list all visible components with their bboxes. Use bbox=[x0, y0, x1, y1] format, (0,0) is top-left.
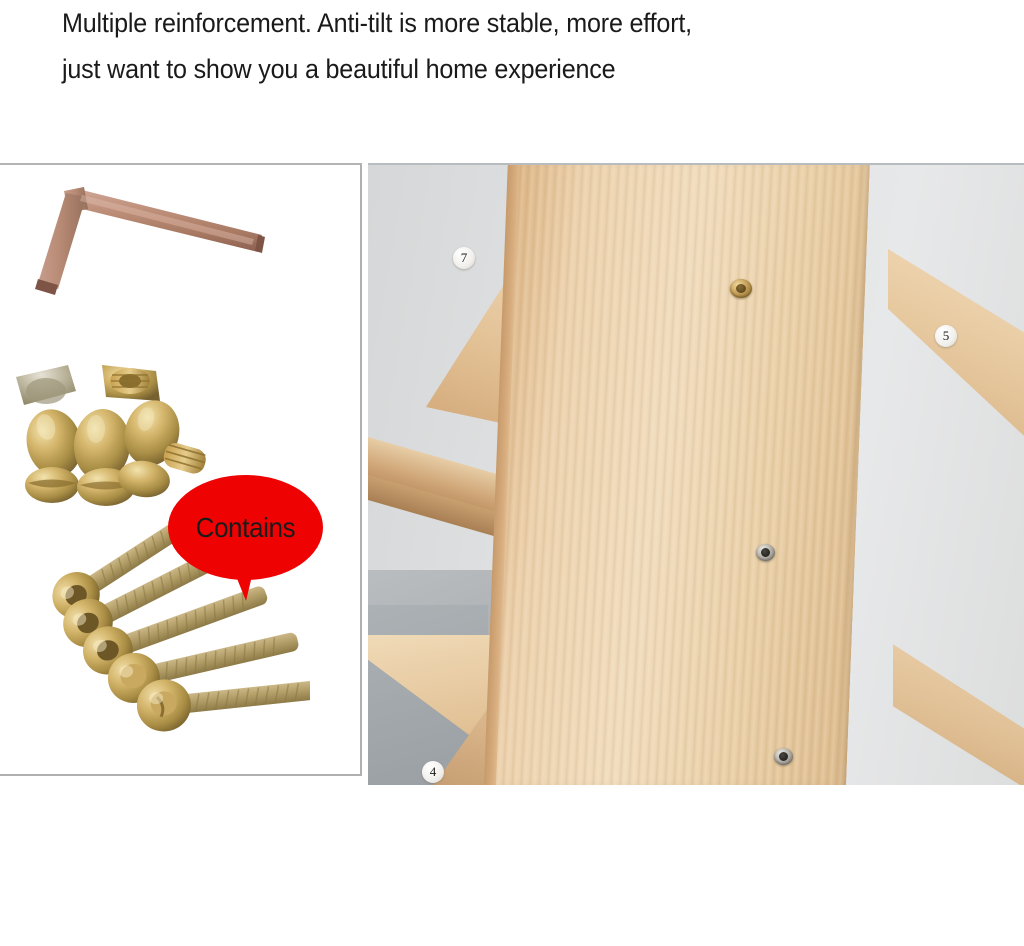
hole-cap-upper-left: 7 bbox=[453, 247, 475, 269]
included-hardware-panel: Contains bbox=[0, 163, 362, 776]
allen-key-icon bbox=[22, 179, 272, 299]
screw-head-silver-middle bbox=[756, 544, 775, 561]
shelf-closeup-panel: 7 5 4 bbox=[368, 163, 1024, 785]
hole-cap-right: 5 bbox=[935, 325, 957, 347]
page-title: Multiple reinforcement. Anti-tilt is mor… bbox=[62, 0, 899, 92]
upright-board bbox=[496, 163, 870, 785]
screw-head-silver-bottom bbox=[774, 748, 793, 765]
screw-head-brass-top bbox=[730, 279, 752, 298]
shelf-closeup-image: 7 5 4 bbox=[368, 165, 1024, 785]
content-panels: Contains 7 5 bbox=[0, 163, 1024, 788]
contains-callout: Contains bbox=[168, 475, 328, 607]
hole-cap-lower-left: 4 bbox=[422, 761, 444, 783]
speech-bubble-body bbox=[168, 475, 323, 580]
